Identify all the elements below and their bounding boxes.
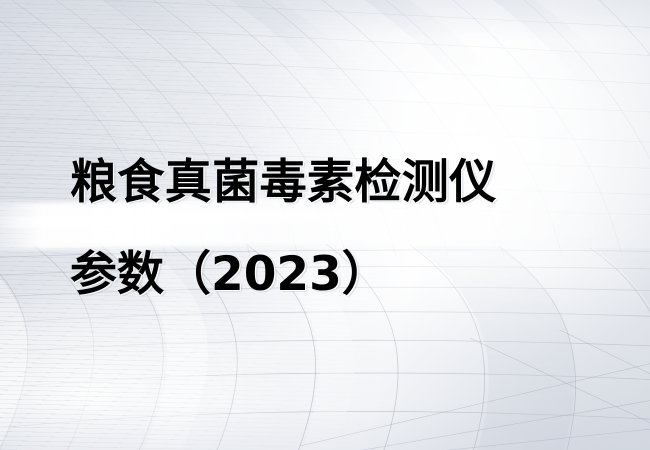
title-line-1: 粮食真菌毒素检测仪 [70,137,590,229]
page-title: 粮食真菌毒素检测仪 参数（2023） [70,137,590,321]
title-banner: 粮食真菌毒素检测仪 参数（2023） [0,0,650,450]
title-line-2: 参数（2023） [70,229,590,321]
